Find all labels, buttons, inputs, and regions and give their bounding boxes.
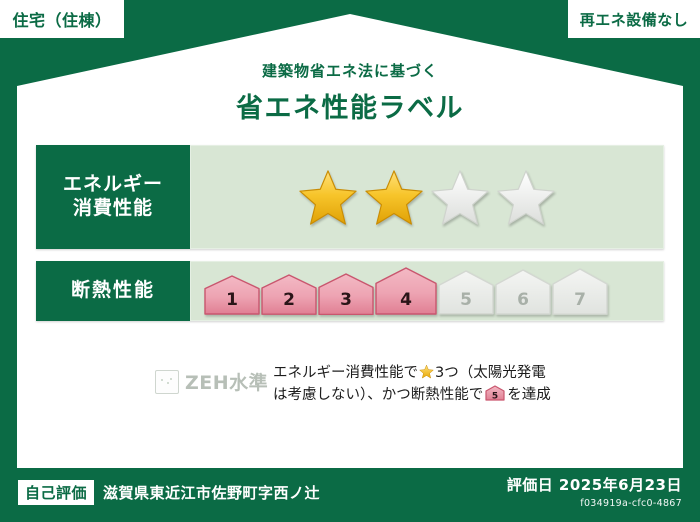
svg-text:5: 5 (492, 392, 498, 402)
zeh-description: エネルギー消費性能で 3つ（太陽光発電 は考慮しない）、かつ断熱性能で 5 を達… (273, 362, 585, 407)
inline-grade-badge: 5 (485, 385, 505, 400)
ratings-container: エネルギー 消費性能 (36, 145, 664, 333)
self-evaluation-badge: 自己評価 (18, 480, 94, 505)
zeh-desc-part3: は考慮しない）、かつ断熱性能で (273, 387, 483, 403)
evaluation-date: 評価日 2025年6月23日 (507, 474, 682, 495)
grade-badge-value: 7 (552, 290, 608, 310)
document-id: f034919a-cfc0-4867 (507, 498, 682, 509)
zeh-badge: ZEH水準 (155, 362, 273, 395)
zeh-desc-part2: 3つ（太陽光発電 (435, 365, 546, 381)
grade-badge: 3 (318, 273, 374, 315)
grade-badge: 4 (375, 267, 437, 315)
grade-badge-value: 1 (204, 290, 260, 310)
grade-badge: 5 (438, 270, 494, 315)
footer-bar: 自己評価 滋賀県東近江市佐野町字西ノ辻 評価日 2025年6月23日 f0349… (0, 468, 700, 522)
renewable-energy-tag: 再エネ設備なし (568, 0, 700, 38)
row-label-energy: エネルギー 消費性能 (36, 145, 190, 249)
grade-badge-value: 2 (261, 290, 317, 310)
page-title: 省エネ性能ラベル (0, 86, 700, 125)
row-label-energy-line1: エネルギー (63, 173, 163, 197)
row-label-insulation: 断熱性能 (36, 261, 190, 321)
row-label-insulation-line1: 断熱性能 (71, 279, 155, 303)
grade-badge-value: 4 (375, 290, 437, 310)
row-label-energy-line2: 消費性能 (73, 197, 153, 221)
grade-badge: 6 (495, 269, 551, 315)
star-rating (190, 145, 664, 249)
zeh-desc-part4: を達成 (507, 387, 551, 403)
property-address: 滋賀県東近江市佐野町字西ノ辻 (103, 482, 320, 503)
grade-badge-value: 3 (318, 290, 374, 310)
zeh-desc-part1: エネルギー消費性能で (273, 365, 418, 381)
footer-left: 自己評価 滋賀県東近江市佐野町字西ノ辻 (18, 480, 320, 505)
title-block: 建築物省エネ法に基づく 省エネ性能ラベル (0, 60, 700, 125)
zeh-note: ZEH水準 エネルギー消費性能で 3つ（太陽光発電 は考慮しない）、かつ断熱性能… (155, 362, 585, 407)
energy-performance-label: 住宅（住棟） 再エネ設備なし 建築物省エネ法に基づく 省エネ性能ラベル エネルギ… (0, 0, 700, 522)
inline-star-icon (419, 364, 434, 379)
grade-badge-value: 5 (438, 290, 494, 310)
grade-rating: 1 2 (190, 261, 664, 321)
grade-badge: 7 (552, 268, 608, 315)
grade-badge: 1 (204, 275, 260, 315)
grade-badge-value: 6 (495, 290, 551, 310)
row-energy-performance: エネルギー 消費性能 (36, 145, 664, 249)
footer-right: 評価日 2025年6月23日 f034919a-cfc0-4867 (507, 474, 682, 509)
grade-badge: 2 (261, 274, 317, 315)
building-type-tag: 住宅（住棟） (0, 0, 124, 38)
zeh-label: ZEH水準 (185, 368, 268, 395)
zeh-house-icon (155, 370, 179, 394)
title-subtitle: 建築物省エネ法に基づく (0, 60, 700, 81)
row-insulation-performance: 断熱性能 1 (36, 261, 664, 321)
